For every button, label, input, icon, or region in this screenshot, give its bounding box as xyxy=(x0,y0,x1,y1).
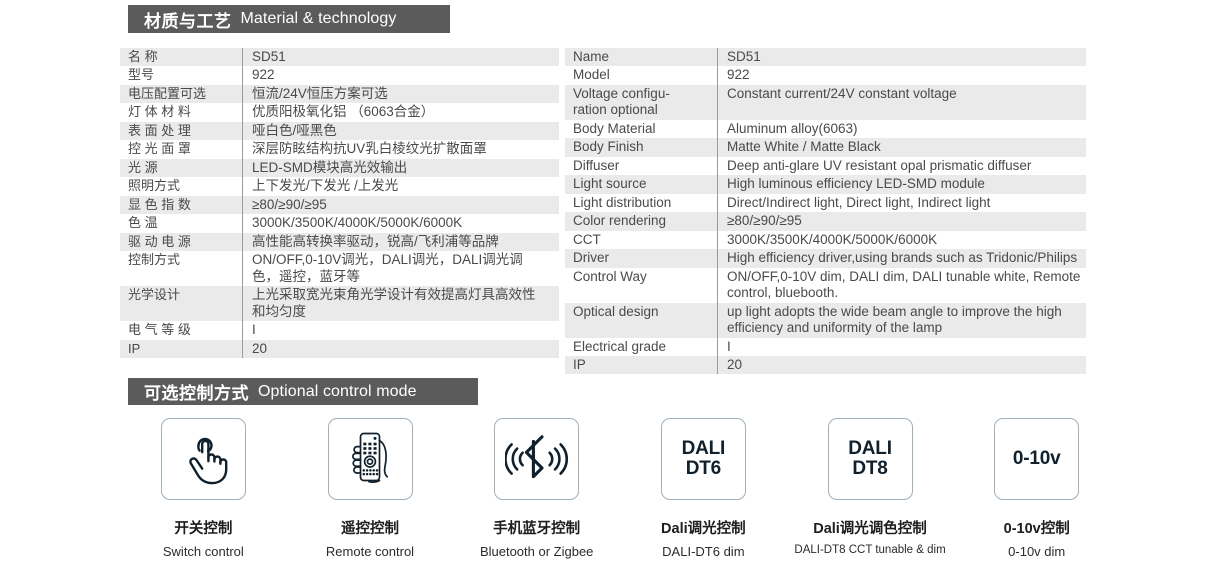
spec-key-text: Light source xyxy=(573,176,647,191)
spec-value-text: 深层防眩结构抗UV乳白棱纹光扩散面罩 xyxy=(252,141,487,156)
spec-key: Light distribution xyxy=(565,194,718,212)
spec-value-text: LED-SMD模块高光效输出 xyxy=(252,160,407,175)
spec-value-text: 恒流/24V恒压方案可选 xyxy=(252,86,388,101)
control-mode-card[interactable]: DALIDT6Dali调光控制DALI-DT6 dim xyxy=(620,418,787,568)
spec-key-text: Electrical grade xyxy=(573,339,666,354)
spec-key: Driver xyxy=(565,249,718,267)
table-row: Light sourceHigh luminous efficiency LED… xyxy=(565,175,1086,193)
spec-key: Name xyxy=(565,48,718,66)
spec-value-text: 3000K/3500K/4000K/5000K/6000K xyxy=(252,215,462,230)
spec-value: 3000K/3500K/4000K/5000K/6000K xyxy=(718,231,1087,249)
spec-key-text: 控 光 面 罩 xyxy=(128,141,191,156)
spec-key-text: Voltage configu- xyxy=(573,86,670,101)
control-mode-icon-text: 0-10v xyxy=(1013,449,1061,469)
control-mode-icon-text-line1: DALI xyxy=(848,439,892,459)
spec-table-chinese-body: 名 称SD51型号922电压配置可选恒流/24V恒压方案可选灯 体 材 料优质阳… xyxy=(120,48,559,358)
spec-key: CCT xyxy=(565,231,718,249)
section-header-material: 材质与工艺 Material & technology xyxy=(128,5,450,33)
control-mode-card[interactable]: DALIDT8Dali调光调色控制DALI-DT8 CCT tunable & … xyxy=(787,418,954,568)
spec-value: I xyxy=(243,321,560,339)
section-header-material-cn: 材质与工艺 xyxy=(144,7,232,32)
spec-key-text: 显 色 指 数 xyxy=(128,197,191,212)
table-row: NameSD51 xyxy=(565,48,1086,66)
spec-value: Constant current/24V constant voltage xyxy=(718,85,1087,120)
spec-value-text: 上光采取宽光束角光学设计有效提高灯具高效性 xyxy=(252,287,536,302)
spec-value-text-line2: 色，遥控，蓝牙等 xyxy=(252,269,559,285)
spec-value: ≥80/≥90/≥95 xyxy=(243,196,560,214)
spec-key-text: 灯 体 材 料 xyxy=(128,104,191,119)
spec-value: 优质阳极氧化铝 （6063合金） xyxy=(243,103,560,121)
spec-key: Body Material xyxy=(565,120,718,138)
table-row: Control WayON/OFF,0-10V dim, DALI dim, D… xyxy=(565,268,1086,303)
spec-value: ≥80/≥90/≥95 xyxy=(718,212,1087,230)
spec-value: 922 xyxy=(718,66,1087,84)
spec-key-text: Model xyxy=(573,67,610,82)
table-row: Optical designup light adopts the wide b… xyxy=(565,303,1086,338)
spec-key: 型号 xyxy=(120,66,243,84)
spec-value: I xyxy=(718,338,1087,356)
spec-key: IP xyxy=(120,340,243,358)
spec-key: Light source xyxy=(565,175,718,193)
spec-value-text: ≥80/≥90/≥95 xyxy=(252,197,327,212)
control-mode-icon-text: DALIDT8 xyxy=(848,439,892,479)
spec-value: 恒流/24V恒压方案可选 xyxy=(243,85,560,103)
control-mode-icon-text-line2: DT6 xyxy=(682,459,726,479)
spec-key-text: IP xyxy=(573,357,586,372)
spec-table-chinese: 名 称SD51型号922电压配置可选恒流/24V恒压方案可选灯 体 材 料优质阳… xyxy=(120,48,559,358)
section-header-control-cn: 可选控制方式 xyxy=(144,379,249,404)
spec-value-text: I xyxy=(252,322,256,337)
spec-key-text: 电压配置可选 xyxy=(128,86,206,101)
spec-key: 显 色 指 数 xyxy=(120,196,243,214)
control-mode-label-en: Bluetooth or Zigbee xyxy=(480,544,593,559)
control-mode-label-en: 0-10v dim xyxy=(1008,544,1065,559)
spec-value-text: SD51 xyxy=(727,49,761,64)
spec-value: ON/OFF,0-10V调光，DALI调光，DALI调光调色，遥控，蓝牙等 xyxy=(243,251,560,286)
spec-table-english: NameSD51Model922Voltage configu-ration o… xyxy=(565,48,1086,374)
bluetooth-icon xyxy=(505,435,569,483)
table-row: DriverHigh efficiency driver,using brand… xyxy=(565,249,1086,267)
spec-value-text: ON/OFF,0-10V调光，DALI调光，DALI调光调 xyxy=(252,252,523,267)
section-header-material-en: Material & technology xyxy=(241,10,397,28)
spec-key: IP xyxy=(565,356,718,374)
control-mode-label-en: Switch control xyxy=(163,544,244,559)
control-mode-label-en: Remote control xyxy=(326,544,414,559)
spec-value-text: 20 xyxy=(252,341,267,356)
spec-value: High efficiency driver,using brands such… xyxy=(718,249,1087,267)
spec-key-text: Diffuser xyxy=(573,158,619,173)
table-row: IP20 xyxy=(120,340,559,358)
spec-key: 控 光 面 罩 xyxy=(120,140,243,158)
control-mode-card[interactable]: 手机蓝牙控制Bluetooth or Zigbee xyxy=(453,418,620,568)
spec-key: 光学设计 xyxy=(120,286,243,321)
spec-key-text: 照明方式 xyxy=(128,178,180,193)
spec-key: 电压配置可选 xyxy=(120,85,243,103)
control-mode-icon-text: DALIDT6 xyxy=(682,439,726,479)
table-row: Model922 xyxy=(565,66,1086,84)
control-mode-label-cn: 0-10v控制 xyxy=(1004,517,1070,538)
spec-value-text: Direct/Indirect light, Direct light, Ind… xyxy=(727,195,990,210)
control-mode-label-en: DALI-DT6 dim xyxy=(662,544,744,559)
section-header-control-mode: 可选控制方式 Optional control mode xyxy=(128,378,478,405)
spec-key-text: 表 面 处 理 xyxy=(128,123,191,138)
spec-key-text: 控制方式 xyxy=(128,252,180,267)
spec-key: 光 源 xyxy=(120,159,243,177)
spec-key-text: Driver xyxy=(573,250,609,265)
table-row: 型号922 xyxy=(120,66,559,84)
control-mode-icon-box xyxy=(494,418,579,500)
spec-value-text-line2: efficiency and uniformity of the lamp xyxy=(727,320,1086,336)
spec-value: Direct/Indirect light, Direct light, Ind… xyxy=(718,194,1087,212)
control-mode-icon-text-line1: 0-10v xyxy=(1013,449,1061,469)
spec-value: 上下发光/下发光 /上发光 xyxy=(243,177,560,195)
spec-key-text: Control Way xyxy=(573,269,647,284)
spec-key-text: Body Finish xyxy=(573,139,644,154)
spec-value-text-line2: 和均匀度 xyxy=(252,304,559,320)
table-row: Body MaterialAluminum alloy(6063) xyxy=(565,120,1086,138)
control-mode-label-cn: 遥控控制 xyxy=(341,517,399,538)
table-row: CCT3000K/3500K/4000K/5000K/6000K xyxy=(565,231,1086,249)
spec-key: Diffuser xyxy=(565,157,718,175)
control-mode-icon-text-line1: DALI xyxy=(682,439,726,459)
table-row: 名 称SD51 xyxy=(120,48,559,66)
spec-value-text: 20 xyxy=(727,357,742,372)
spec-key-text: 色 温 xyxy=(128,215,158,230)
spec-key: 名 称 xyxy=(120,48,243,66)
spec-value-text-line2: control, bluebooth. xyxy=(727,285,1086,301)
spec-value: 上光采取宽光束角光学设计有效提高灯具高效性和均匀度 xyxy=(243,286,560,321)
control-mode-label-cn: 开关控制 xyxy=(174,517,232,538)
spec-value-text: 优质阳极氧化铝 （6063合金） xyxy=(252,104,434,119)
spec-value-text: 3000K/3500K/4000K/5000K/6000K xyxy=(727,232,937,247)
spec-value-text: ON/OFF,0-10V dim, DALI dim, DALI tunable… xyxy=(727,269,1080,284)
spec-value-text: 922 xyxy=(252,67,275,82)
spec-value-text: I xyxy=(727,339,731,354)
spec-key-text: 光学设计 xyxy=(128,287,180,302)
control-mode-card[interactable]: 遥控控制Remote control xyxy=(287,418,454,568)
table-row: 照明方式上下发光/下发光 /上发光 xyxy=(120,177,559,195)
spec-value-text: Constant current/24V constant voltage xyxy=(727,86,957,101)
spec-table-english-body: NameSD51Model922Voltage configu-ration o… xyxy=(565,48,1086,374)
spec-key-text: 驱 动 电 源 xyxy=(128,234,191,249)
spec-value: High luminous efficiency LED-SMD module xyxy=(718,175,1087,193)
control-mode-icon-box xyxy=(161,418,246,500)
control-mode-card[interactable]: 开关控制Switch control xyxy=(120,418,287,568)
spec-value-text: ≥80/≥90/≥95 xyxy=(727,213,802,228)
table-row: Light distributionDirect/Indirect light,… xyxy=(565,194,1086,212)
spec-value-text: Matte White / Matte Black xyxy=(727,139,881,154)
spec-key-text: 型号 xyxy=(128,67,154,82)
spec-value: 深层防眩结构抗UV乳白棱纹光扩散面罩 xyxy=(243,140,560,158)
spec-key-text: 名 称 xyxy=(128,49,158,64)
control-mode-card[interactable]: 0-10v0-10v控制0-10v dim xyxy=(953,418,1120,568)
spec-key-text: Body Material xyxy=(573,121,656,136)
spec-value-text: 922 xyxy=(727,67,750,82)
spec-key-text: CCT xyxy=(573,232,601,247)
table-row: 光学设计上光采取宽光束角光学设计有效提高灯具高效性和均匀度 xyxy=(120,286,559,321)
spec-value: 20 xyxy=(718,356,1087,374)
table-row: Color rendering≥80/≥90/≥95 xyxy=(565,212,1086,230)
spec-value: SD51 xyxy=(243,48,560,66)
spec-key: Body Finish xyxy=(565,138,718,156)
spec-value-text: High efficiency driver,using brands such… xyxy=(727,250,1077,265)
spec-key-text: Color rendering xyxy=(573,213,666,228)
spec-key: 表 面 处 理 xyxy=(120,122,243,140)
remote-hand-icon xyxy=(342,430,398,488)
table-row: 控 光 面 罩深层防眩结构抗UV乳白棱纹光扩散面罩 xyxy=(120,140,559,158)
control-mode-label-cn: Dali调光控制 xyxy=(661,517,746,538)
control-mode-label-en: DALI-DT8 CCT tunable & dim xyxy=(794,544,945,556)
hand-tap-icon xyxy=(177,431,229,487)
spec-value: ON/OFF,0-10V dim, DALI dim, DALI tunable… xyxy=(718,268,1087,303)
spec-value-text: 上下发光/下发光 /上发光 xyxy=(252,178,398,193)
spec-value-text: 高性能高转换率驱动，锐高/飞利浦等品牌 xyxy=(252,234,499,249)
spec-value-text: 哑白色/哑黑色 xyxy=(252,123,337,138)
spec-key-text: 电 气 等 级 xyxy=(128,322,191,337)
control-mode-icon-box xyxy=(328,418,413,500)
table-row: 色 温3000K/3500K/4000K/5000K/6000K xyxy=(120,214,559,232)
spec-value: 哑白色/哑黑色 xyxy=(243,122,560,140)
spec-value: 3000K/3500K/4000K/5000K/6000K xyxy=(243,214,560,232)
spec-key: Color rendering xyxy=(565,212,718,230)
spec-key: 电 气 等 级 xyxy=(120,321,243,339)
spec-key: 照明方式 xyxy=(120,177,243,195)
spec-key: 灯 体 材 料 xyxy=(120,103,243,121)
spec-value: SD51 xyxy=(718,48,1087,66)
spec-key: 色 温 xyxy=(120,214,243,232)
table-row: IP20 xyxy=(565,356,1086,374)
table-row: 驱 动 电 源高性能高转换率驱动，锐高/飞利浦等品牌 xyxy=(120,233,559,251)
table-row: DiffuserDeep anti-glare UV resistant opa… xyxy=(565,157,1086,175)
spec-key: Control Way xyxy=(565,268,718,303)
table-row: Voltage configu-ration optionalConstant … xyxy=(565,85,1086,120)
spec-value-text: up light adopts the wide beam angle to i… xyxy=(727,304,1062,319)
spec-key-text: Name xyxy=(573,49,609,64)
spec-key: Optical design xyxy=(565,303,718,338)
spec-key-text: Optical design xyxy=(573,304,659,319)
spec-key: 驱 动 电 源 xyxy=(120,233,243,251)
spec-key: 控制方式 xyxy=(120,251,243,286)
table-row: 灯 体 材 料优质阳极氧化铝 （6063合金） xyxy=(120,103,559,121)
spec-value: LED-SMD模块高光效输出 xyxy=(243,159,560,177)
control-mode-icon-box: 0-10v xyxy=(994,418,1079,500)
spec-key: Voltage configu-ration optional xyxy=(565,85,718,120)
table-row: 表 面 处 理哑白色/哑黑色 xyxy=(120,122,559,140)
table-row: Body FinishMatte White / Matte Black xyxy=(565,138,1086,156)
spec-value: Aluminum alloy(6063) xyxy=(718,120,1087,138)
spec-key: Model xyxy=(565,66,718,84)
control-mode-icon-box: DALIDT6 xyxy=(661,418,746,500)
spec-value: 20 xyxy=(243,340,560,358)
spec-value: Matte White / Matte Black xyxy=(718,138,1087,156)
spec-value-text: Deep anti-glare UV resistant opal prisma… xyxy=(727,158,1031,173)
control-mode-label-cn: Dali调光调色控制 xyxy=(813,517,927,538)
table-row: 电压配置可选恒流/24V恒压方案可选 xyxy=(120,85,559,103)
table-row: 光 源LED-SMD模块高光效输出 xyxy=(120,159,559,177)
spec-value-text: Aluminum alloy(6063) xyxy=(727,121,858,136)
section-header-control-en: Optional control mode xyxy=(258,383,417,401)
table-row: Electrical gradeI xyxy=(565,338,1086,356)
spec-key: Electrical grade xyxy=(565,338,718,356)
spec-key-text: Light distribution xyxy=(573,195,671,210)
table-row: 控制方式ON/OFF,0-10V调光，DALI调光，DALI调光调色，遥控，蓝牙… xyxy=(120,251,559,286)
spec-value: up light adopts the wide beam angle to i… xyxy=(718,303,1087,338)
control-mode-label-cn: 手机蓝牙控制 xyxy=(493,517,580,538)
table-row: 显 色 指 数≥80/≥90/≥95 xyxy=(120,196,559,214)
spec-value-text: SD51 xyxy=(252,49,286,64)
control-mode-icon-box: DALIDT8 xyxy=(828,418,913,500)
spec-key-text: IP xyxy=(128,341,140,356)
spec-value: 高性能高转换率驱动，锐高/飞利浦等品牌 xyxy=(243,233,560,251)
spec-key-text: 光 源 xyxy=(128,160,158,175)
control-mode-icon-text-line2: DT8 xyxy=(848,459,892,479)
spec-value: Deep anti-glare UV resistant opal prisma… xyxy=(718,157,1087,175)
spec-value: 922 xyxy=(243,66,560,84)
control-mode-list: 开关控制Switch control遥控控制Remote control手机蓝牙… xyxy=(120,418,1120,568)
table-row: 电 气 等 级I xyxy=(120,321,559,339)
spec-value-text: High luminous efficiency LED-SMD module xyxy=(727,176,985,191)
spec-key-text-line2: ration optional xyxy=(573,102,711,118)
